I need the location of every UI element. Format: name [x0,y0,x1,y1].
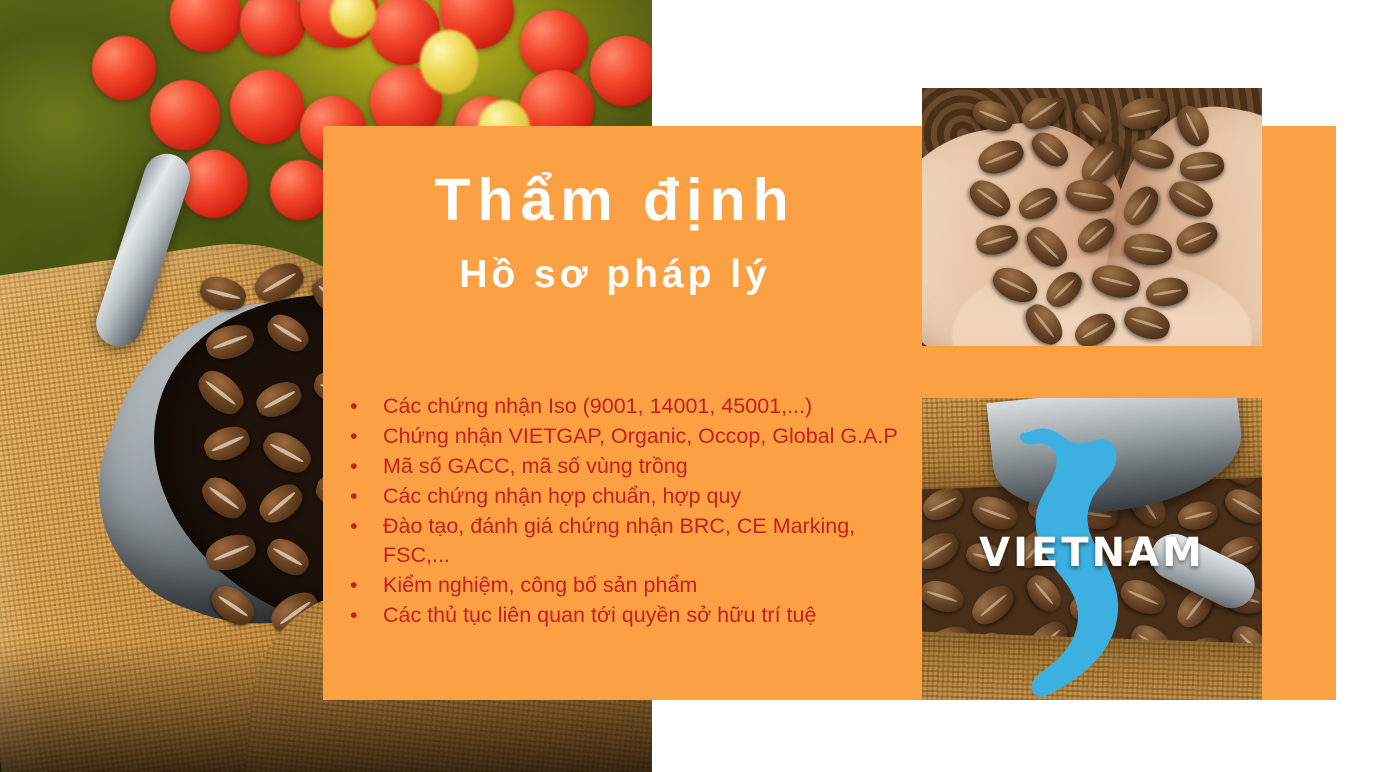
bullet-marker-icon: • [350,482,358,511]
list-item: • Các thủ tục liên quan tới quyền sở hữu… [345,601,905,630]
list-item: • Đào tạo, đánh giá chứng nhận BRC, CE M… [345,512,905,570]
slide-canvas: Thẩm định Hồ sơ pháp lý • Các chứng nhận… [0,0,1392,772]
coffee-cherry [180,150,248,218]
list-item: • Các chứng nhận Iso (9001, 14001, 45001… [345,392,905,421]
bullet-marker-icon: • [350,452,358,481]
bullet-marker-icon: • [350,422,358,451]
list-item: • Các chứng nhận hợp chuẩn, hợp quy [345,482,905,511]
vietnam-label: VIETNAM [922,530,1262,576]
held-bean-pile [962,98,1230,346]
page-title: Thẩm định [323,170,907,232]
bullet-marker-icon: • [350,601,358,630]
coffee-cherry [520,10,588,78]
list-item-label: Các chứng nhận hợp chuẩn, hợp quy [383,484,741,508]
certification-bullet-list: • Các chứng nhận Iso (9001, 14001, 45001… [345,392,905,631]
coffee-cherry [270,160,330,220]
vietnam-map-over-coffee-beans-photo: VIETNAM [922,398,1262,700]
bullet-marker-icon: • [350,392,358,421]
bullet-marker-icon: • [350,571,358,600]
list-item-label: Các thủ tục liên quan tới quyền sở hữu t… [383,603,816,627]
list-item-label: Các chứng nhận Iso (9001, 14001, 45001,.… [383,394,812,418]
list-item-label: Đào tạo, đánh giá chứng nhận BRC, CE Mar… [383,514,855,567]
coffee-cherry [590,36,652,106]
list-item: • Mã số GACC, mã số vùng trồng [345,452,905,481]
list-item: • Kiểm nghiệm, công bố sản phẩm [345,571,905,600]
list-item-label: Mã số GACC, mã số vùng trồng [383,454,688,478]
coffee-cherry [150,80,220,150]
list-item: • Chứng nhận VIETGAP, Organic, Occop, Gl… [345,422,905,451]
coffee-cherry [230,70,304,144]
page-subtitle: Hồ sơ pháp lý [323,254,907,297]
list-item-label: Kiểm nghiệm, công bố sản phẩm [383,573,697,597]
hands-holding-roasted-beans-photo [922,88,1262,346]
title-block: Thẩm định Hồ sơ pháp lý [323,170,907,297]
unripe-cherry [420,30,478,94]
coffee-cherry [92,36,156,100]
bullet-marker-icon: • [350,512,358,541]
list-item-label: Chứng nhận VIETGAP, Organic, Occop, Glob… [383,424,898,448]
